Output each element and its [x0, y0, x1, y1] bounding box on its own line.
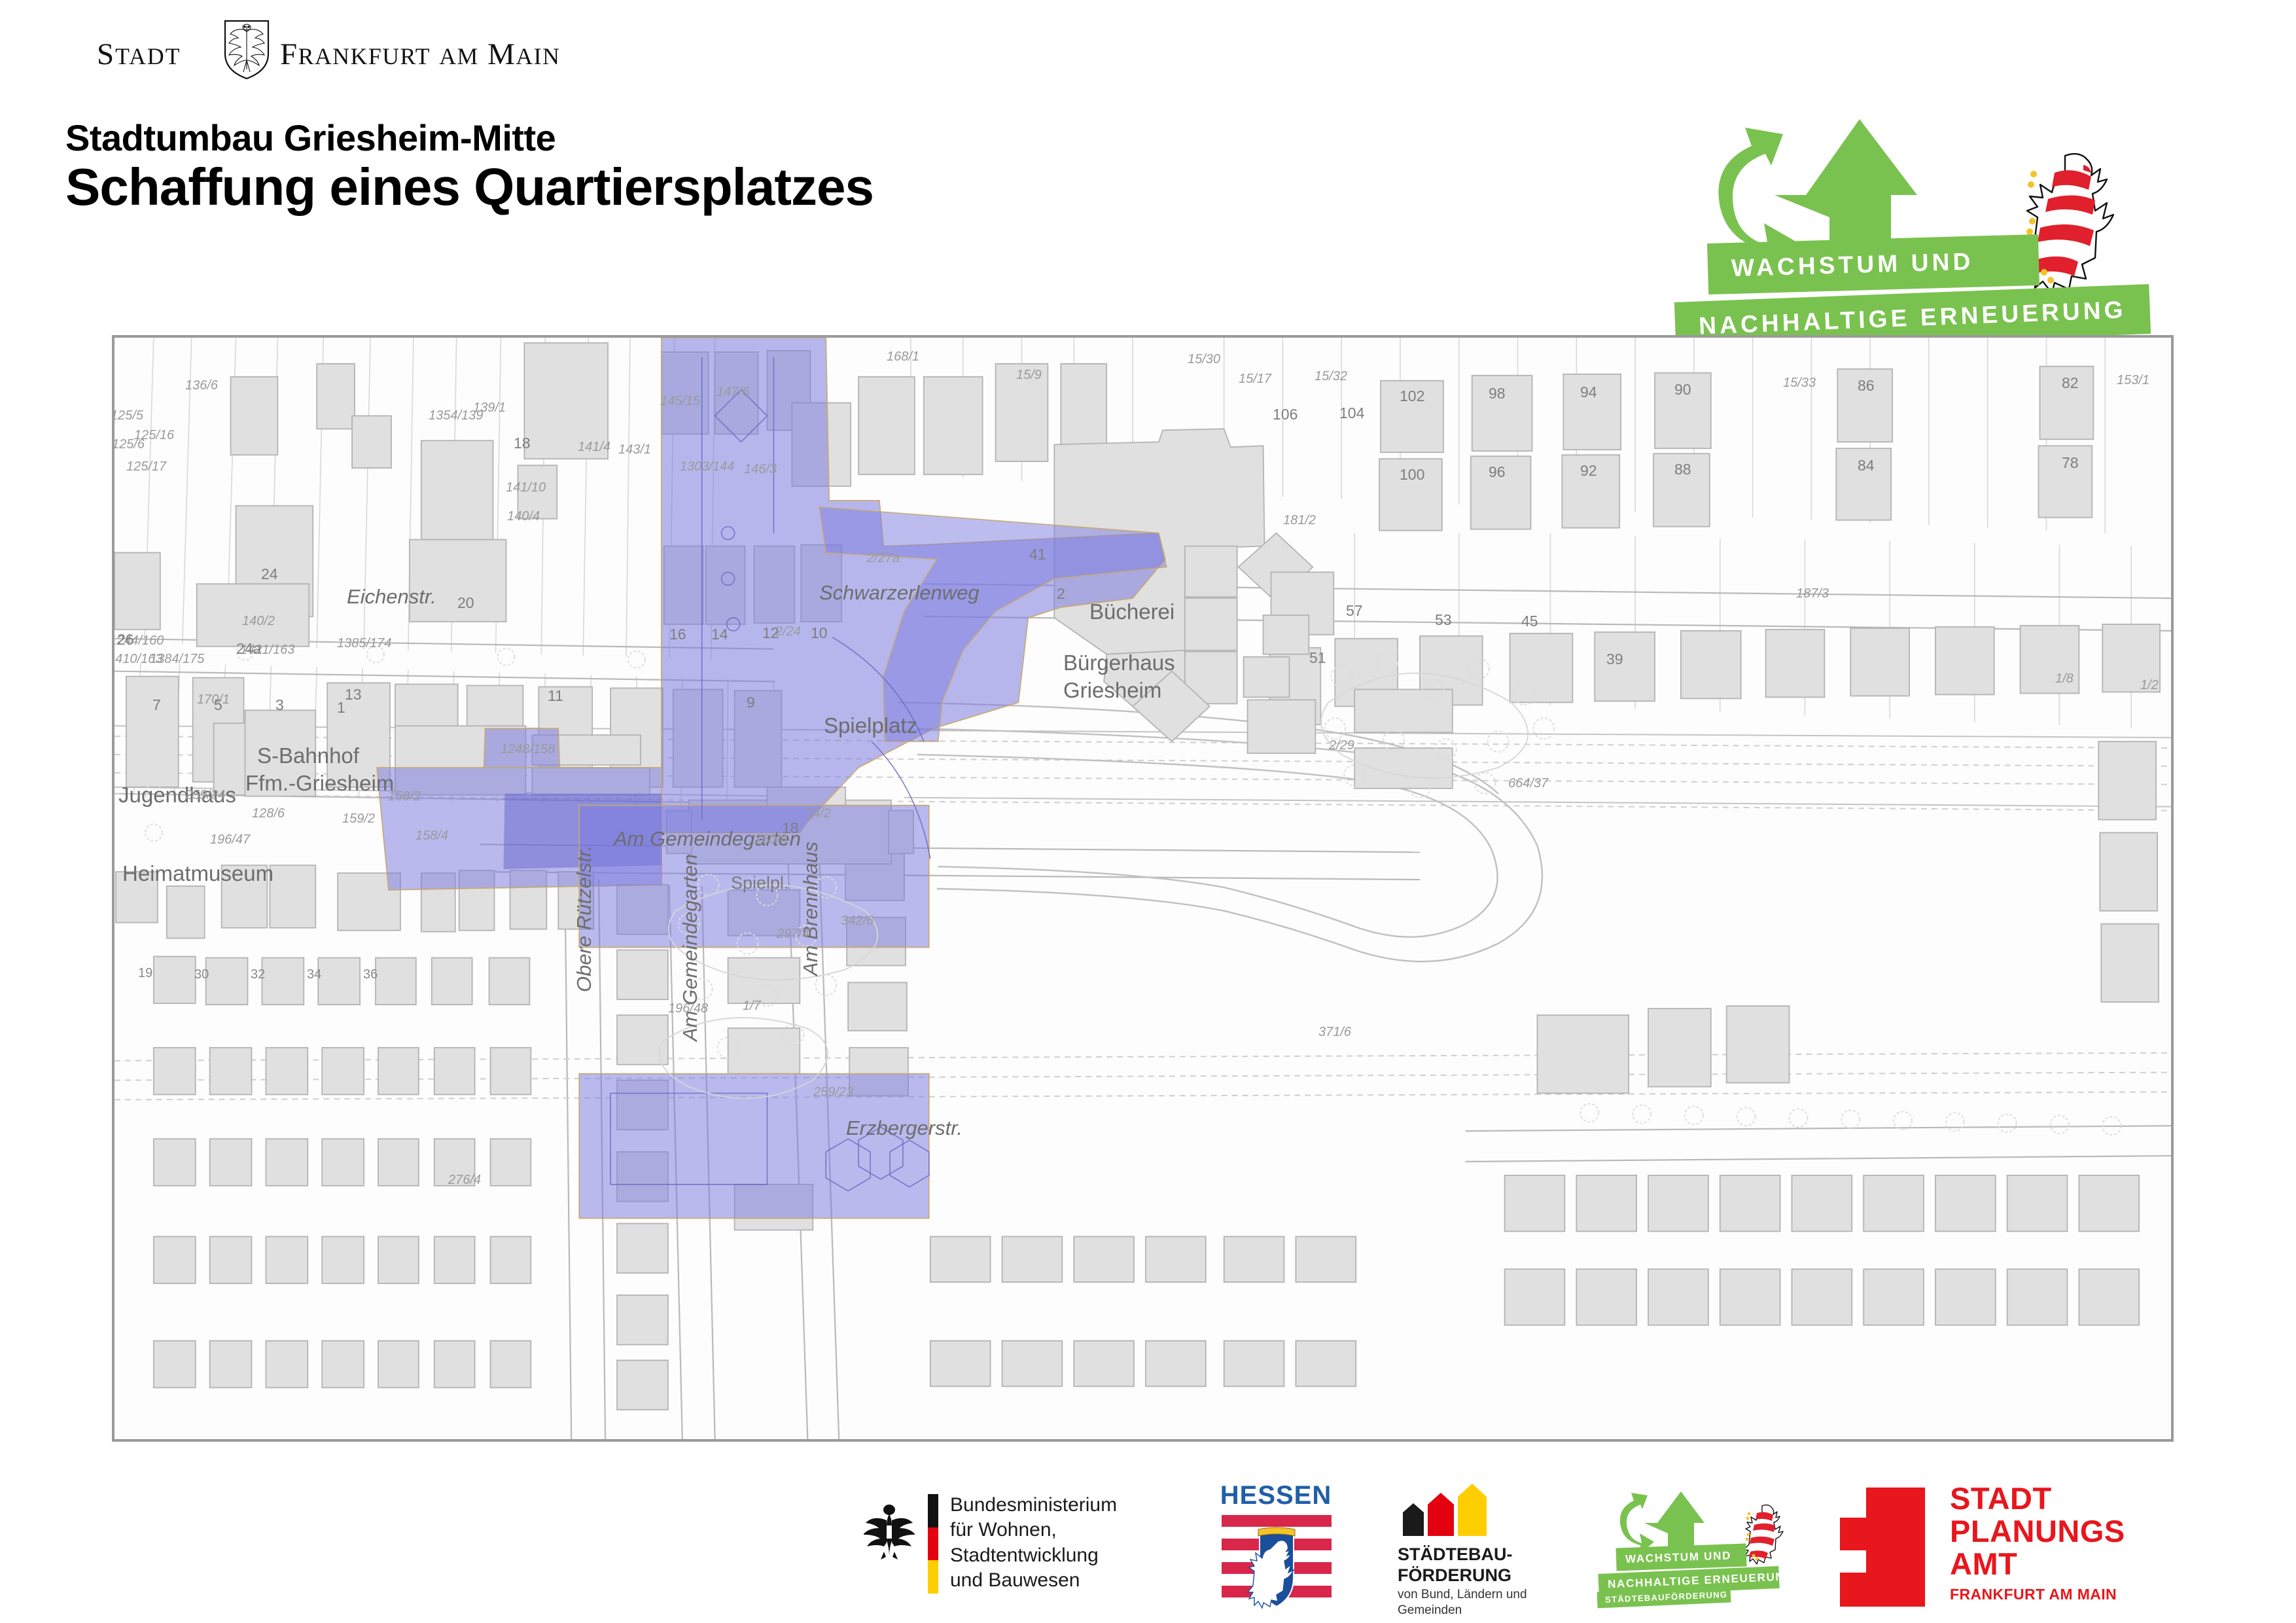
hessen-logo: HESSEN: [1214, 1481, 1338, 1612]
city-logo-left-word: STADT: [97, 37, 181, 72]
german-flag-bar-icon: [928, 1494, 938, 1594]
staedtebaufoerderung-logo: STÄDTEBAU- FÖRDERUNG von Bund, Ländern u…: [1394, 1484, 1557, 1614]
staedtebau-line-4: Gemeinden: [1398, 1603, 1527, 1618]
project-subtitle: Stadtumbau Griesheim-Mitte: [65, 116, 556, 159]
three-houses-icon: [1399, 1484, 1491, 1536]
bundesministerium-logo: Bundesministerium für Wohnen, Stadtentwi…: [864, 1488, 1191, 1612]
spa-subtitle: FRANKFURT AM MAIN: [1950, 1586, 2117, 1603]
bundesadler-icon: [864, 1499, 915, 1560]
spa-wordmark: STADT PLANUNGS AMT: [1950, 1482, 2125, 1580]
bmwsb-line-1: Bundesministerium: [950, 1493, 1191, 1518]
cadastral-site-map[interactable]: Eichenstr. Schwarzerlenweg Am Gemeindega…: [112, 335, 2174, 1442]
hessen-flag-shield-icon: [1222, 1515, 1332, 1612]
spa-line-2: PLANUNGS: [1950, 1515, 2125, 1548]
quartiersplatz-highlight-south-block: [579, 1074, 929, 1219]
quartiersplatz-highlight-tab: [484, 728, 560, 768]
map-vector-layer: [115, 338, 2171, 1439]
spa-line-1: STADT: [1950, 1482, 2125, 1515]
hessen-word: HESSEN: [1214, 1481, 1338, 1510]
spa-block-mark-icon: [1826, 1488, 1925, 1607]
document-header: STADT FRANKFURT AM MAIN Stadtumbau Gries…: [0, 0, 2296, 314]
wachstum-band-line1: WACHSTUM UND: [1707, 234, 2040, 294]
staedtebau-subtitle: von Bund, Ländern und Gemeinden: [1398, 1587, 1527, 1618]
bmwsb-line-3: und Bauwesen: [950, 1568, 1191, 1593]
page-title: Schaffung eines Quartiersplatzes: [65, 157, 874, 217]
city-logo-right-word: FRANKFURT AM MAIN: [280, 37, 560, 72]
staedtebau-line-1: STÄDTEBAU-: [1398, 1544, 1513, 1565]
bmwsb-line-2: für Wohnen, Stadtentwicklung: [950, 1518, 1191, 1568]
frankfurt-eagle-crest-icon: [221, 17, 272, 80]
stadtplanungsamt-logo: STADT PLANUNGS AMT FRANKFURT AM MAIN: [1826, 1482, 2166, 1613]
spa-line-3: AMT: [1950, 1548, 2125, 1580]
wachstum-hessen-small-logo: WACHSTUM UND NACHHALTIGE ERNEUERUNG STÄD…: [1580, 1482, 1803, 1613]
staedtebau-line-3: von Bund, Ländern und: [1398, 1587, 1527, 1603]
staedtebau-title: STÄDTEBAU- FÖRDERUNG: [1398, 1544, 1513, 1586]
bmwsb-text: Bundesministerium für Wohnen, Stadtentwi…: [950, 1493, 1191, 1594]
wachstum-small-line1: WACHSTUM UND: [1616, 1544, 1746, 1571]
stadt-frankfurt-logo: STADT FRANKFURT AM MAIN: [97, 31, 516, 77]
funding-logo-bar: Bundesministerium für Wohnen, Stadtentwi…: [0, 1476, 2296, 1623]
staedtebau-line-2: FÖRDERUNG: [1398, 1565, 1513, 1586]
